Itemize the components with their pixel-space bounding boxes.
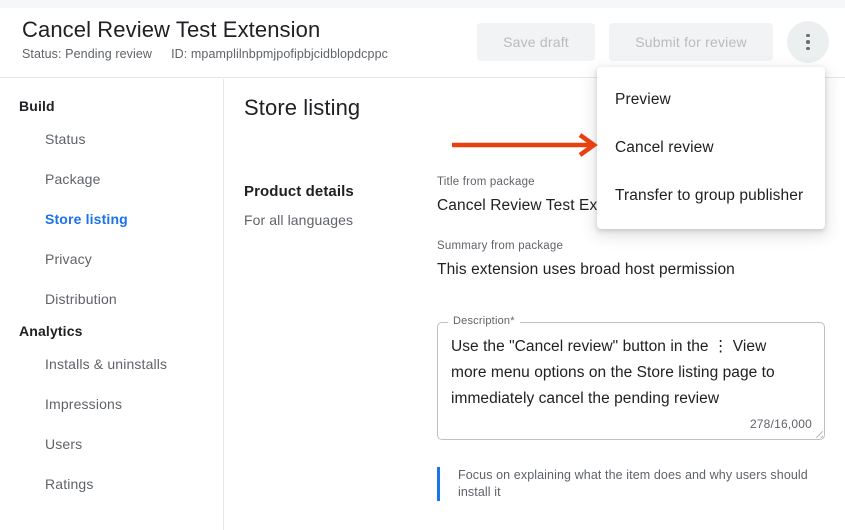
more-options-button[interactable] — [787, 21, 829, 63]
description-textarea-value[interactable]: Use the "Cancel review" button in the ⋮ … — [451, 334, 797, 412]
sidebar-group-analytics: Analytics — [0, 319, 223, 344]
summary-from-package-label: Summary from package — [437, 238, 837, 254]
store-listing-heading: Store listing — [244, 95, 360, 121]
description-character-counter: 278/16,000 — [750, 417, 812, 431]
product-details-subtitle: For all languages — [244, 212, 424, 228]
summary-from-package-field: Summary from package This extension uses… — [437, 238, 837, 281]
description-label: Description* — [448, 315, 520, 328]
sidebar-group-build: Build — [0, 94, 223, 119]
submit-for-review-button[interactable]: Submit for review — [609, 23, 773, 61]
menu-item-preview[interactable]: Preview — [597, 76, 825, 124]
sidebar-item-users[interactable]: Users — [0, 424, 223, 464]
status-text: Status: Pending review — [22, 47, 152, 61]
sidebar-item-package[interactable]: Package — [0, 159, 223, 199]
description-hint: Focus on explaining what the item does a… — [437, 467, 827, 501]
product-details-section-header: Product details For all languages — [244, 183, 424, 228]
chrome-web-store-developer-dashboard: Cancel Review Test Extension Status: Pen… — [0, 0, 845, 530]
header-meta-row: Status: Pending review ID: mpamplilnbpmj… — [22, 47, 388, 61]
sidebar-item-store-listing[interactable]: Store listing — [0, 199, 223, 239]
sidebar-item-distribution[interactable]: Distribution — [0, 279, 223, 319]
page-title-extension-name: Cancel Review Test Extension — [22, 16, 388, 44]
description-hint-text: Focus on explaining what the item does a… — [458, 467, 827, 501]
more-vert-icon — [806, 34, 810, 51]
header-title-block: Cancel Review Test Extension Status: Pen… — [22, 16, 388, 61]
resize-handle-icon[interactable] — [813, 428, 823, 438]
sidebar-nav: Build Status Package Store listing Priva… — [0, 79, 224, 530]
description-field[interactable]: Description* Use the "Cancel review" but… — [437, 322, 825, 440]
menu-item-transfer-to-group-publisher[interactable]: Transfer to group publisher — [597, 172, 825, 220]
sidebar-item-installs-uninstalls[interactable]: Installs & uninstalls — [0, 344, 223, 384]
save-draft-button[interactable]: Save draft — [477, 23, 595, 61]
header-actions: Save draft Submit for review — [477, 21, 829, 63]
sidebar-item-impressions[interactable]: Impressions — [0, 384, 223, 424]
extension-id-text: ID: mpamplilnbpmjpofipbjcidblopdcppc — [171, 47, 388, 61]
sidebar-item-privacy[interactable]: Privacy — [0, 239, 223, 279]
summary-from-package-value: This extension uses broad host permissio… — [437, 259, 837, 281]
sidebar-item-status[interactable]: Status — [0, 119, 223, 159]
sidebar-item-ratings[interactable]: Ratings — [0, 464, 223, 504]
menu-item-cancel-review[interactable]: Cancel review — [597, 124, 825, 172]
more-options-menu: Preview Cancel review Transfer to group … — [597, 67, 825, 229]
top-strip — [0, 0, 845, 8]
product-details-heading: Product details — [244, 183, 424, 200]
